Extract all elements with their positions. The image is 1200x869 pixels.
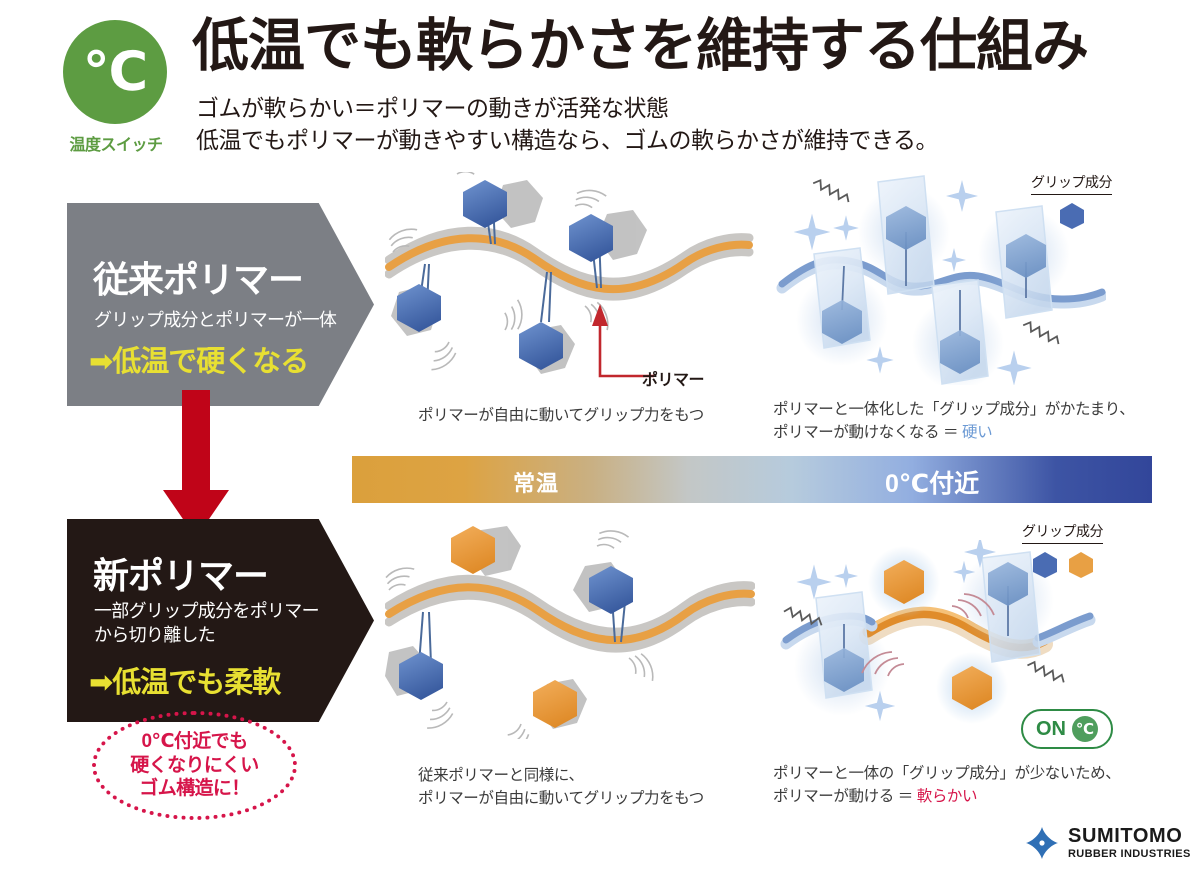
legend-grip-component-bottom: グリップ成分 [1022, 521, 1103, 579]
banner-new-sub-line2: から切り離した [94, 625, 215, 645]
banner-new-sub-line1: 一部グリップ成分をポリマー [94, 601, 319, 621]
temperature-label-cold: 0℃付近 [885, 464, 979, 500]
company-logo: SUMITOMO RUBBER INDUSTRIES [1025, 826, 1191, 860]
caption-top-right-line2: ポリマーが動けなくなる ＝ [773, 424, 962, 441]
caption-bot-right-line1: ポリマーと一体の「グリップ成分」が少ないため、 [773, 765, 1120, 782]
celsius-icon: ℃ [1072, 716, 1098, 742]
page-title: 低温でも軟らかさを維持する仕組み [192, 16, 1088, 78]
caption-top-right-line1: ポリマーと一体化した「グリップ成分」がかたまり、 [773, 401, 1134, 418]
logo-company-name: SUMITOMO [1068, 826, 1191, 846]
hexagon-orange-icon [1068, 551, 1094, 579]
callout-line-3: ゴム構造に！ [139, 777, 249, 801]
temperature-gradient-bar [352, 456, 1152, 503]
temperature-switch-caption: 温度スイッチ [57, 131, 175, 155]
banner-new-sub: 一部グリップ成分をポリマー から切り離した [94, 599, 319, 648]
banner-conventional-sub: グリップ成分とポリマーが一体 [94, 308, 336, 332]
banner-new-polymer: 新ポリマー 一部グリップ成分をポリマー から切り離した ➡低温でも柔軟 [67, 519, 374, 722]
caption-conventional-room-temperature: ポリマーが自由に動いてグリップ力をもつ [418, 404, 704, 427]
temperature-switch-badge: ℃ [63, 20, 167, 124]
legend-top-title: グリップ成分 [1031, 172, 1112, 195]
hexagon-blue-icon [1032, 551, 1058, 579]
callout-line-2: 硬くなりにくい [130, 754, 258, 778]
caption-soft-word: 軟らかい [917, 788, 977, 805]
banner-conventional-polymer: 従来ポリマー グリップ成分とポリマーが一体 ➡低温で硬くなる [67, 203, 374, 406]
diagram-new-room-temperature [385, 524, 755, 744]
banner-conventional-highlight: ➡低温で硬くなる [89, 338, 308, 380]
caption-hard-word: 硬い [962, 424, 992, 441]
subtitle-line-1: ゴムが軟らかい＝ポリマーの動きが活発な状態 [196, 89, 669, 123]
banner-conventional-title: 従来ポリマー [93, 251, 303, 303]
temperature-label-warm: 常温 [513, 466, 559, 498]
subtitle-line-2: 低温でもポリマーが動きやすい構造なら、ゴムの軟らかさが維持できる。 [196, 121, 938, 155]
sumitomo-logo-mark-icon [1025, 826, 1059, 860]
legend-grip-component-top: グリップ成分 [1031, 172, 1112, 230]
polymer-annotation-label: ポリマー [642, 366, 704, 390]
caption-new-cold: ポリマーと一体の「グリップ成分」が少ないため、 ポリマーが動ける ＝ 軟らかい [773, 762, 1120, 809]
hexagon-blue-icon [1059, 202, 1085, 230]
logo-text: SUMITOMO RUBBER INDUSTRIES [1068, 826, 1191, 860]
caption-bot-mid-line2: ポリマーが自由に動いてグリップ力をもつ [418, 790, 704, 807]
diagram-conventional-room-temperature [385, 172, 755, 387]
callout-rubber-structure: 0℃付近でも 硬くなりにくい ゴム構造に！ [92, 711, 297, 820]
caption-bot-right-line2: ポリマーが動ける ＝ [773, 788, 917, 805]
legend-top-swatches [1031, 202, 1112, 230]
infographic-root: ℃ 温度スイッチ 低温でも軟らかさを維持する仕組み ゴムが軟らかい＝ポリマーの動… [0, 0, 1200, 869]
legend-bottom-swatches [1022, 551, 1103, 579]
banner-new-title: 新ポリマー [93, 547, 268, 599]
caption-conventional-cold: ポリマーと一体化した「グリップ成分」がかたまり、 ポリマーが動けなくなる ＝ 硬… [773, 398, 1134, 445]
banner-new-highlight: ➡低温でも柔軟 [89, 659, 280, 701]
callout-line-1: 0℃付近でも [142, 730, 248, 754]
caption-new-room-temperature: 従来ポリマーと同様に、 ポリマーが自由に動いてグリップ力をもつ [418, 764, 704, 811]
on-badge-label: ON [1036, 718, 1066, 741]
logo-company-sub: RUBBER INDUSTRIES [1068, 849, 1191, 860]
transition-down-arrow-icon [159, 390, 233, 540]
temperature-switch-on-badge: ON ℃ [1021, 709, 1113, 749]
legend-bottom-title: グリップ成分 [1022, 521, 1103, 544]
caption-bot-mid-line1: 従来ポリマーと同様に、 [418, 767, 584, 784]
celsius-icon: ℃ [83, 45, 147, 99]
